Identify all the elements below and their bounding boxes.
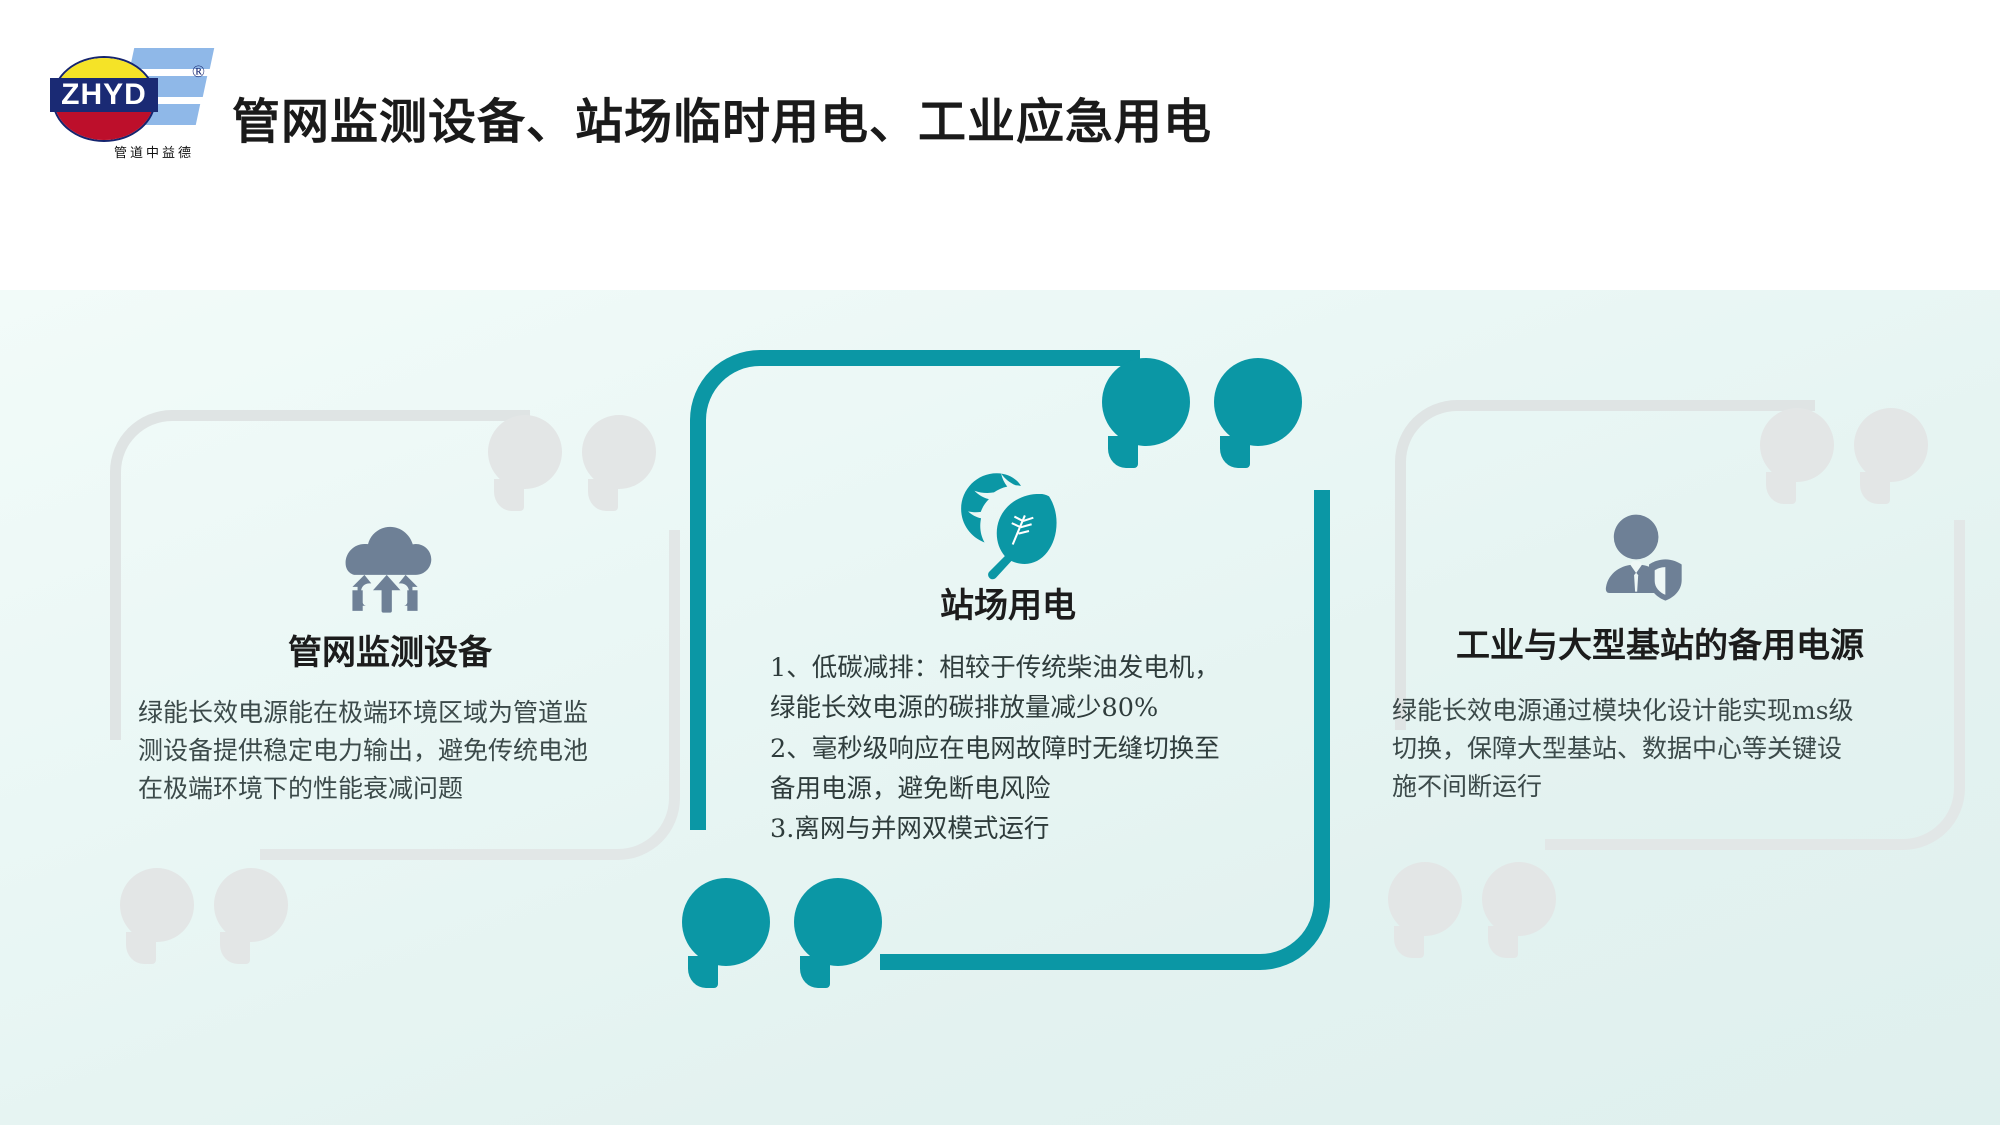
globe-leaf-icon (948, 462, 1068, 582)
logo-wordmark-band: ZHYD (50, 78, 158, 112)
company-logo: ZHYD ® 管道中益德 (48, 42, 208, 157)
card-body-line: 切换，保障大型基站、数据中心等关键设 (1392, 730, 1912, 768)
card-body-line: 2、毫秒级响应在电网故障时无缝切换至 (770, 729, 1290, 769)
card-body-line: 1、低碳减排：相较于传统柴油发电机， (770, 648, 1290, 688)
slide-root: ZHYD ® 管道中益德 管网监测设备、站场临时用电、工业应急用电 管网监测设备 (0, 0, 2000, 1125)
card-body-line: 3.离网与并网双模式运行 (770, 809, 1290, 849)
card-body-line: 施不间断运行 (1392, 768, 1912, 806)
card-body-station-power: 1、低碳减排：相较于传统柴油发电机， 绿能长效电源的碳排放量减少80% 2、毫秒… (770, 648, 1290, 849)
slide-header: ZHYD ® 管道中益德 管网监测设备、站场临时用电、工业应急用电 (0, 0, 2000, 290)
card-body-line: 绿能长效电源的碳排放量减少80% (770, 688, 1290, 728)
registered-trademark-icon: ® (192, 62, 205, 82)
card-title-industrial-backup: 工业与大型基站的备用电源 (1380, 618, 1940, 667)
logo-wordmark: ZHYD (61, 80, 147, 110)
logo-subtitle: 管道中益德 (94, 142, 214, 161)
card-body-line: 绿能长效电源通过模块化设计能实现ms级 (1392, 692, 1912, 730)
card-body-line: 备用电源，避免断电风险 (770, 769, 1290, 809)
card-title-pipeline-monitoring: 管网监测设备 (140, 625, 640, 674)
card-body-line: 绿能长效电源能在极端环境区域为管道监 (138, 694, 638, 732)
card-body-line: 在极端环境下的性能衰减问题 (138, 770, 638, 808)
card-body-pipeline-monitoring: 绿能长效电源能在极端环境区域为管道监 测设备提供稳定电力输出，避免传统电池 在极… (138, 694, 638, 808)
card-title-station-power: 站场用电 (798, 578, 1218, 627)
user-shield-icon (1588, 512, 1698, 617)
card-body-line: 测设备提供稳定电力输出，避免传统电池 (138, 732, 638, 770)
card-body-industrial-backup: 绿能长效电源通过模块化设计能实现ms级 切换，保障大型基站、数据中心等关键设 施… (1392, 692, 1912, 806)
page-title: 管网监测设备、站场临时用电、工业应急用电 (232, 82, 1212, 152)
cloud-upload-icon (330, 520, 440, 610)
